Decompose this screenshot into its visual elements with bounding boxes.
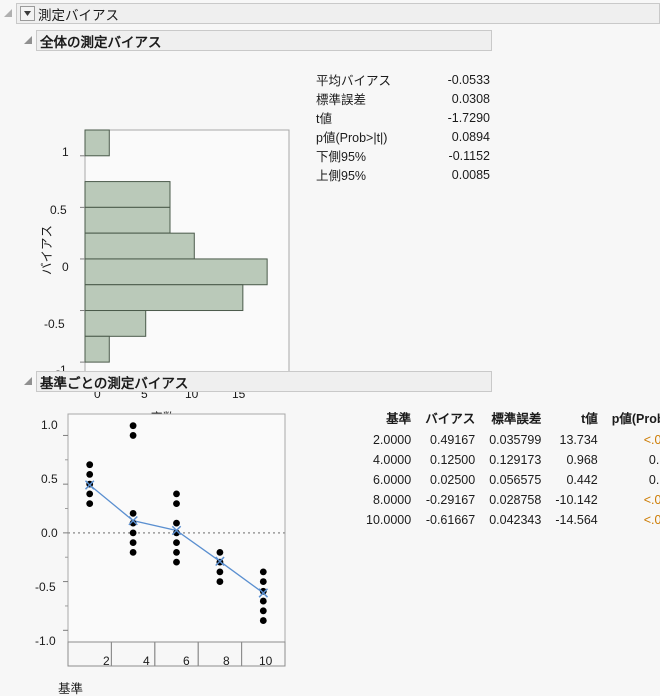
stat-value: -0.0533 — [428, 73, 490, 87]
bias-cell: -0.29167 — [411, 490, 475, 510]
by-standard-title-text: 基準ごとの測定バイアス — [40, 372, 188, 392]
stat-row: 標準誤差 0.0308 — [316, 89, 490, 108]
stderr-cell: 0.028758 — [475, 490, 541, 510]
stderr-cell: 0.129173 — [475, 450, 541, 470]
outline-triangle-icon[interactable] — [22, 32, 36, 50]
stat-value: 0.0308 — [428, 92, 490, 106]
table-row: 4.00000.125000.1291730.9680.3540 — [352, 450, 660, 470]
stat-value: -1.7290 — [428, 111, 490, 125]
stat-label: 平均バイアス — [316, 70, 428, 89]
scatter-x-axis-title: 基準 — [58, 678, 83, 696]
column-header-standard: 基準 — [352, 408, 411, 430]
standard-cell: 8.0000 — [352, 490, 411, 510]
standard-cell: 6.0000 — [352, 470, 411, 490]
stat-value: -0.1152 — [428, 149, 490, 163]
tvalue-cell: 0.968 — [541, 450, 597, 470]
standard-cell: 4.0000 — [352, 450, 411, 470]
tvalue-cell: 13.734 — [541, 430, 597, 450]
by-standard-title-bar[interactable]: 基準ごとの測定バイアス — [36, 371, 492, 392]
bias-histogram: バイアス 1 0.5 0 -0.5 -1 0 5 10 15 度数 — [0, 60, 300, 360]
column-header-bias: バイアス — [411, 408, 475, 430]
pvalue-cell: <.0001* — [598, 490, 660, 510]
column-header-tvalue: t値 — [541, 408, 597, 430]
stderr-cell: 0.042343 — [475, 510, 541, 530]
stat-row: t値 -1.7290 — [316, 108, 490, 127]
table-header-row: 基準 バイアス 標準誤差 t値 p値(Prob>|t|) — [352, 408, 660, 430]
tvalue-cell: 0.442 — [541, 470, 597, 490]
measurement-bias-title-bar[interactable]: 測定バイアス — [16, 3, 660, 24]
stat-row: p値(Prob>|t|) 0.0894 — [316, 127, 490, 146]
stderr-cell: 0.035799 — [475, 430, 541, 450]
tvalue-cell: -10.142 — [541, 490, 597, 510]
top-outline-row: 測定バイアス — [2, 3, 660, 24]
histogram-canvas — [0, 60, 300, 390]
table-row: 6.00000.025000.0565750.4420.6671 — [352, 470, 660, 490]
report-page: 測定バイアス 全体の測定バイアス バイアス 1 0.5 0 -0.5 -1 0 … — [0, 0, 660, 696]
pvalue-cell: 0.6671 — [598, 470, 660, 490]
bias-cell: -0.61667 — [411, 510, 475, 530]
bias-cell: 0.02500 — [411, 470, 475, 490]
top-title-text: 測定バイアス — [38, 4, 119, 24]
stat-row: 平均バイアス -0.0533 — [316, 70, 490, 89]
outline-triangle-icon[interactable] — [22, 373, 36, 391]
standard-cell: 2.0000 — [352, 430, 411, 450]
tvalue-cell: -14.564 — [541, 510, 597, 530]
bias-by-standard-table: 基準 バイアス 標準誤差 t値 p値(Prob>|t|) 2.00000.491… — [352, 408, 660, 530]
pvalue-cell: <.0001* — [598, 510, 660, 530]
table-row: 2.00000.491670.03579913.734<.0001* — [352, 430, 660, 450]
outline-triangle-icon[interactable] — [2, 5, 16, 23]
dropdown-arrow-icon[interactable] — [20, 6, 35, 21]
overall-statistics-table: 平均バイアス -0.0533 標準誤差 0.0308 t値 -1.7290 p値… — [316, 70, 490, 184]
stat-label: p値(Prob>|t|) — [316, 127, 428, 146]
by-standard-outline-row: 基準ごとの測定バイアス — [22, 371, 492, 392]
pvalue-cell: <.0001* — [598, 430, 660, 450]
scatter-canvas — [0, 402, 310, 678]
stat-row: 上側95% 0.0085 — [316, 165, 490, 184]
bias-table-element: 基準 バイアス 標準誤差 t値 p値(Prob>|t|) 2.00000.491… — [352, 408, 660, 530]
stat-label: 下側95% — [316, 146, 428, 165]
overall-outline-row: 全体の測定バイアス — [22, 30, 492, 51]
stat-row: 下側95% -0.1152 — [316, 146, 490, 165]
bias-cell: 0.49167 — [411, 430, 475, 450]
overall-bias-title-text: 全体の測定バイアス — [40, 31, 162, 51]
stat-label: 標準誤差 — [316, 89, 428, 108]
table-row: 10.0000-0.616670.042343-14.564<.0001* — [352, 510, 660, 530]
column-header-pvalue: p値(Prob>|t|) — [598, 408, 660, 430]
stat-value: 0.0085 — [428, 168, 490, 182]
column-header-stderr: 標準誤差 — [475, 408, 541, 430]
standard-cell: 10.0000 — [352, 510, 411, 530]
stat-label: 上側95% — [316, 165, 428, 184]
stat-label: t値 — [316, 108, 428, 127]
bias-by-standard-scatter: バイアス 1.0 0.5 0.0 -0.5 -1.0 2 4 6 8 10 基準 — [0, 402, 310, 696]
stat-value: 0.0894 — [428, 130, 490, 144]
pvalue-cell: 0.3540 — [598, 450, 660, 470]
bias-cell: 0.12500 — [411, 450, 475, 470]
table-row: 8.0000-0.291670.028758-10.142<.0001* — [352, 490, 660, 510]
overall-bias-title-bar[interactable]: 全体の測定バイアス — [36, 30, 492, 51]
stderr-cell: 0.056575 — [475, 470, 541, 490]
